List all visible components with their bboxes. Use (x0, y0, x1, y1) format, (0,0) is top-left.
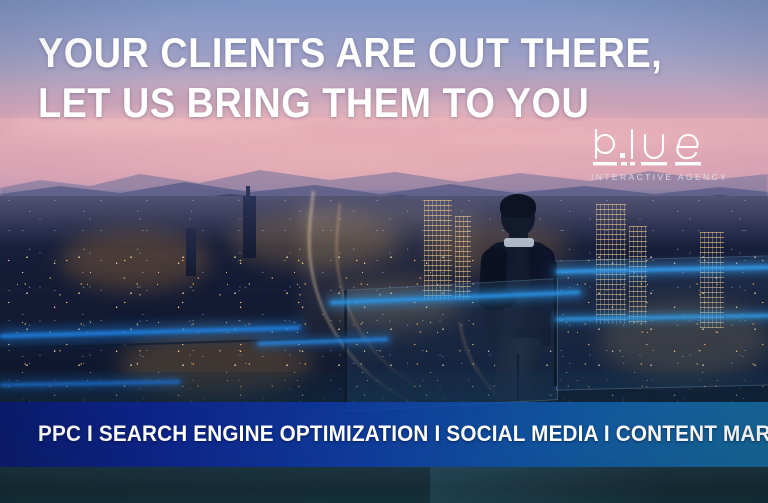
logo-tagline: INTERACTIVE AGENCY (591, 172, 733, 182)
services-list-text: PPC I SEARCH ENGINE OPTIMIZATION I SOCIA… (38, 421, 696, 447)
railing-post (344, 290, 347, 408)
railing-post (554, 262, 557, 386)
headline-line-1: YOUR CLIENTS ARE OUT THERE, (38, 28, 596, 78)
skyscraper (243, 196, 256, 258)
terrace-floor-sheen (430, 467, 768, 503)
logo-wordmark-blue (585, 128, 733, 172)
headline: YOUR CLIENTS ARE OUT THERE, LET US BRING… (38, 28, 596, 128)
skyscraper-antenna (246, 186, 250, 200)
headline-line-2: LET US BRING THEM TO YOU (38, 78, 596, 128)
skyscraper (186, 228, 196, 276)
figure-hair (500, 194, 536, 218)
logo-dot (620, 153, 625, 158)
brand-logo[interactable]: INTERACTIVE AGENCY (585, 128, 733, 190)
glass-panel (556, 255, 768, 390)
figure-shirt-collar (504, 238, 534, 247)
logo-underline-bars (593, 162, 701, 165)
hero-banner: YOUR CLIENTS ARE OUT THERE, LET US BRING… (0, 0, 768, 503)
cloud-streak (60, 150, 440, 164)
